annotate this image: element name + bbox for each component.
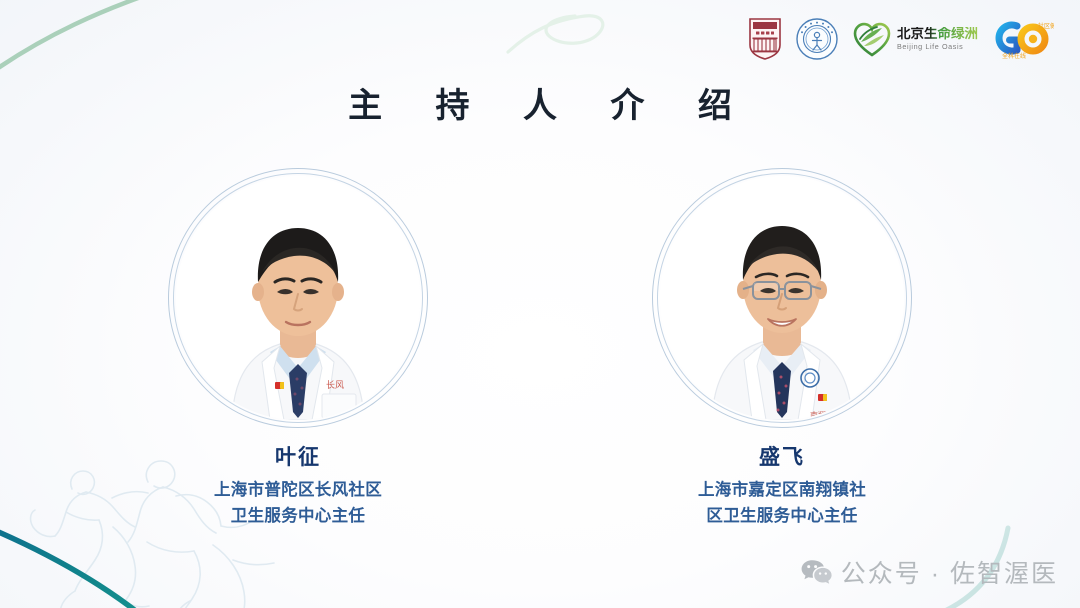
oasis-logo-text-cn: 北京生命绿洲 <box>897 27 978 41</box>
watermark: 公众号 · 佐智渥医 <box>801 554 1058 590</box>
oasis-leaf-heart-icon <box>852 19 892 59</box>
person-org-line: 上海市嘉定区南翔镇社 <box>698 478 866 504</box>
svg-text:全科在线: 全科在线 <box>1002 52 1026 60</box>
logo-beijing-life-oasis: 北京生命绿洲 Beijing Life Oasis <box>852 16 978 62</box>
logo-go-community-health: 社区健康 全科在线 <box>992 16 1054 62</box>
person-org-line: 卫生服务中心主任 <box>214 504 382 530</box>
portrait-image-sheng-fei: 南翔 <box>660 176 904 420</box>
person-name: 盛飞 <box>759 445 805 470</box>
svg-text:社区健康: 社区健康 <box>1038 22 1054 30</box>
person-org-line: 上海市普陀区长风社区 <box>214 478 382 504</box>
watermark-text: 公众号 · 佐智渥医 <box>841 554 1058 590</box>
person-org: 上海市普陀区长风社区 卫生服务中心主任 <box>214 478 382 529</box>
logo-hospital-emblem <box>796 16 838 62</box>
portrait-image-ye-zheng: 长风 <box>176 176 420 420</box>
svg-text:长风: 长风 <box>326 379 344 390</box>
logo-university-shield <box>748 16 782 62</box>
person-org: 上海市嘉定区南翔镇社 区卫生服务中心主任 <box>698 478 866 529</box>
people-list: 长风 <box>0 168 1080 529</box>
person-org-line: 区卫生服务中心主任 <box>698 504 866 530</box>
portrait-frame: 长风 <box>168 168 428 428</box>
slide-root: 北京生命绿洲 Beijing Life Oasis 社区健康 全科在线 主 持 … <box>0 0 1080 608</box>
person-card: 长风 <box>168 168 428 529</box>
bottom-left-teal-arc-decoration <box>0 520 176 608</box>
wechat-icon <box>801 559 832 586</box>
oasis-logo-text-en: Beijing Life Oasis <box>897 43 978 51</box>
logo-bar: 北京生命绿洲 Beijing Life Oasis 社区健康 全科在线 <box>748 16 1054 62</box>
page-title: 主 持 人 介 绍 <box>0 78 1080 127</box>
svg-text:南翔: 南翔 <box>810 410 826 420</box>
person-card: 南翔 <box>652 168 912 529</box>
person-name: 叶征 <box>275 445 321 470</box>
portrait-frame: 南翔 <box>652 168 912 428</box>
top-center-swoosh-decoration <box>508 16 603 52</box>
